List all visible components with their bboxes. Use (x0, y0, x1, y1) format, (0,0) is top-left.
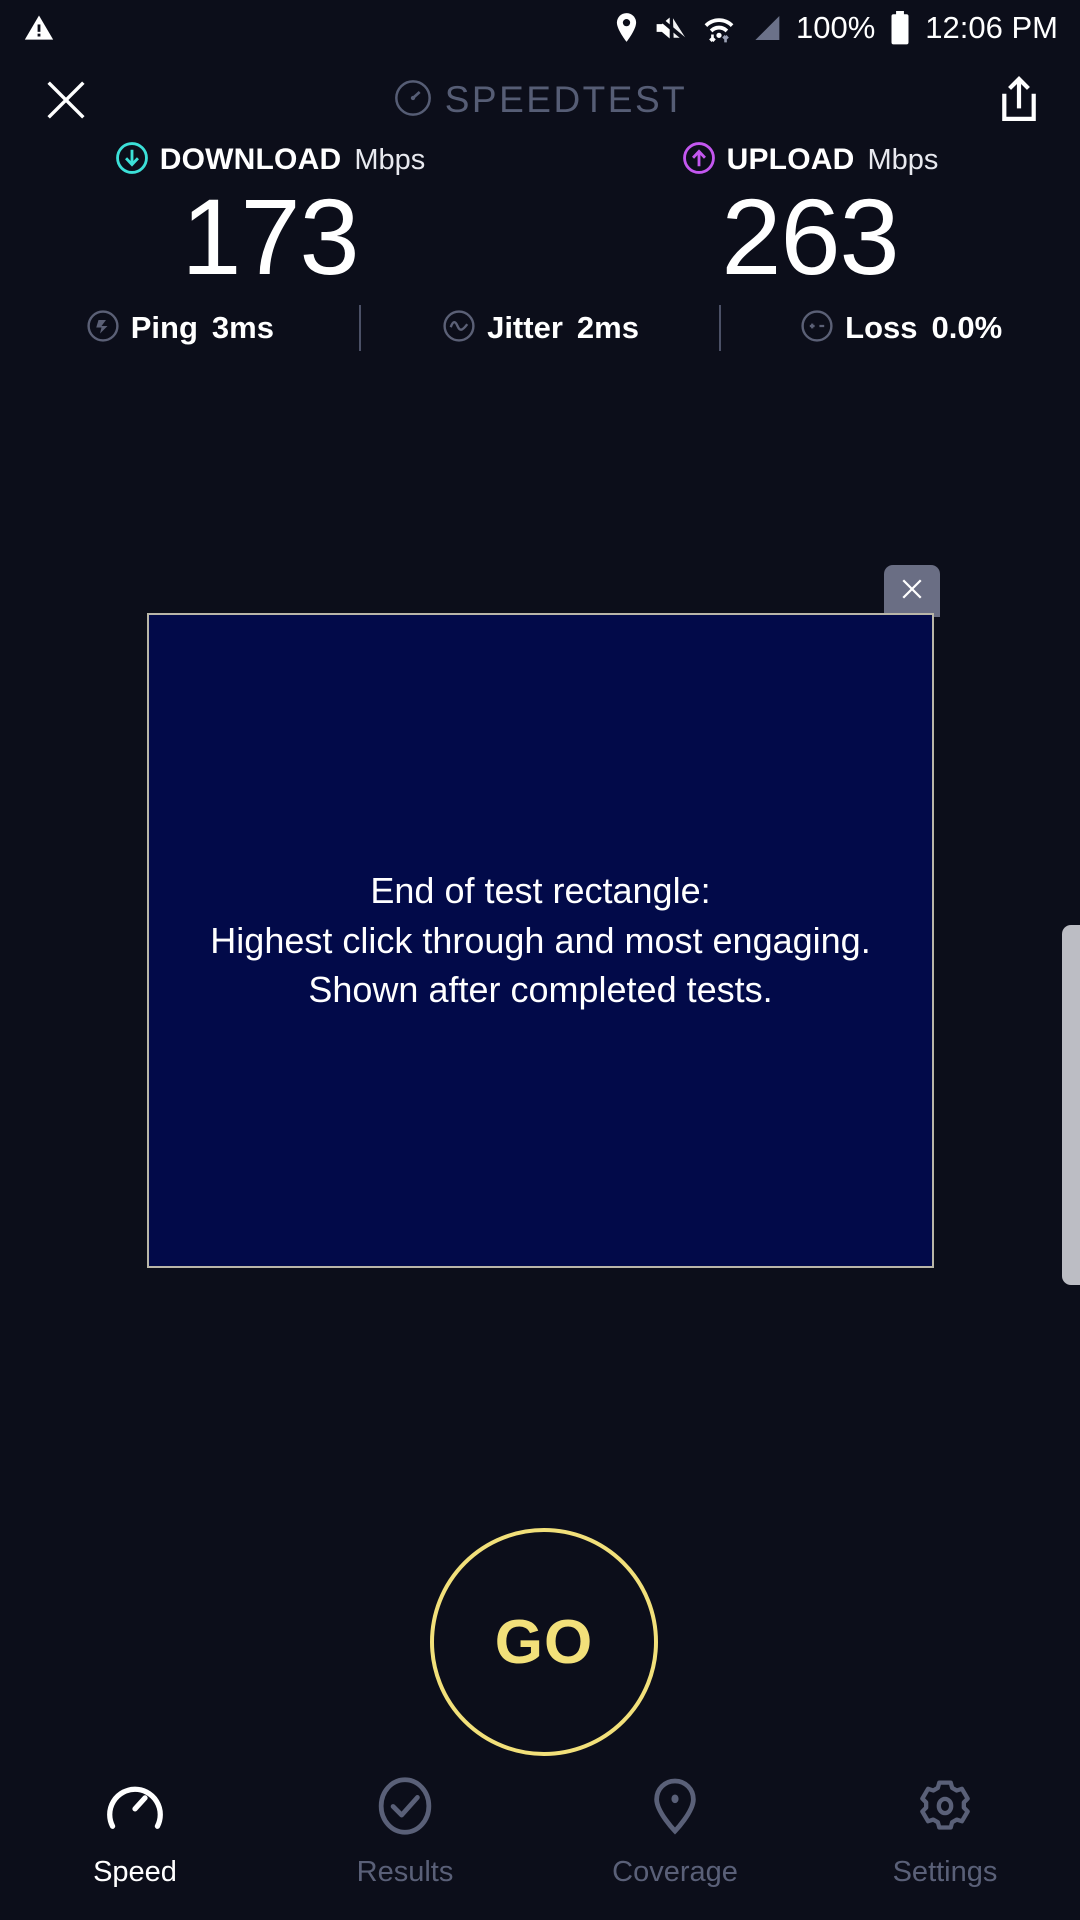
app-header: SPEEDTEST (0, 55, 1080, 145)
ping-stat: Ping 3ms (0, 308, 359, 349)
clock-label: 12:06 PM (925, 10, 1058, 46)
nav-label-coverage: Coverage (612, 1856, 738, 1889)
download-unit: Mbps (354, 144, 425, 177)
check-circle-icon (374, 1777, 436, 1840)
nav-item-speed[interactable]: Speed (0, 1777, 270, 1889)
nav-label-speed: Speed (93, 1856, 177, 1889)
upload-label: UPLOAD (727, 143, 855, 177)
close-icon (897, 574, 927, 609)
upload-metric: UPLOAD Mbps 263 (540, 140, 1080, 292)
warning-triangle-icon (22, 11, 56, 45)
nav-item-results[interactable]: Results (270, 1777, 540, 1889)
ad-line-3: Shown after completed tests. (210, 965, 870, 1015)
loss-label: Loss (845, 310, 917, 346)
jitter-icon (441, 308, 477, 349)
nav-item-coverage[interactable]: Coverage (540, 1777, 810, 1889)
download-header: DOWNLOAD Mbps (115, 140, 426, 180)
upload-value: 263 (721, 182, 898, 292)
battery-full-icon (889, 11, 911, 45)
location-pin-icon (613, 12, 640, 44)
close-icon[interactable] (40, 74, 92, 126)
status-bar-left (22, 11, 56, 45)
share-icon[interactable] (998, 74, 1040, 126)
status-bar-right: 100% 12:06 PM (613, 10, 1058, 46)
ad-close-button[interactable] (884, 565, 940, 617)
cellular-signal-icon (750, 12, 782, 44)
ad-text-block: End of test rectangle: Highest click thr… (210, 866, 870, 1015)
download-arrow-icon (115, 141, 149, 180)
ad-line-2: Highest click through and most engaging. (210, 916, 870, 966)
bottom-navigation: Speed Results Coverage Settings (0, 1765, 1080, 1920)
download-value: 173 (181, 182, 358, 292)
ping-label: Ping (131, 310, 198, 346)
scrollbar-thumb[interactable] (1062, 925, 1080, 1285)
upload-arrow-icon (682, 141, 716, 180)
gear-icon (914, 1777, 976, 1840)
nav-item-settings[interactable]: Settings (810, 1777, 1080, 1889)
loss-stat: Loss 0.0% (721, 308, 1080, 349)
loss-value: 0.0% (932, 310, 1003, 346)
speedtest-gauge-icon (393, 78, 433, 123)
ad-line-1: End of test rectangle: (210, 866, 870, 916)
speedometer-icon (104, 1777, 166, 1840)
nav-label-settings: Settings (893, 1856, 998, 1889)
jitter-label: Jitter (487, 310, 563, 346)
upload-unit: Mbps (867, 144, 938, 177)
volume-muted-icon (654, 12, 688, 44)
results-summary: DOWNLOAD Mbps 173 UPLOAD Mbps 263 (0, 140, 1080, 292)
location-pin-icon (644, 1777, 706, 1840)
page-title: SPEEDTEST (445, 79, 688, 121)
network-stats-row: Ping 3ms Jitter 2ms Loss 0.0% (0, 305, 1080, 351)
go-button-label: GO (495, 1607, 593, 1678)
advertisement-banner[interactable]: End of test rectangle: Highest click thr… (147, 613, 934, 1268)
jitter-value: 2ms (577, 310, 639, 346)
wifi-transfer-icon (702, 11, 736, 45)
battery-percent-label: 100% (796, 10, 875, 46)
loss-icon (799, 308, 835, 349)
nav-label-results: Results (357, 1856, 454, 1889)
download-upload-row: DOWNLOAD Mbps 173 UPLOAD Mbps 263 (0, 140, 1080, 292)
go-button[interactable]: GO (430, 1528, 658, 1756)
jitter-stat: Jitter 2ms (361, 308, 720, 349)
download-metric: DOWNLOAD Mbps 173 (0, 140, 540, 292)
upload-header: UPLOAD Mbps (682, 140, 939, 180)
ping-icon (85, 308, 121, 349)
download-label: DOWNLOAD (160, 143, 342, 177)
status-bar: 100% 12:06 PM (0, 0, 1080, 55)
app-title-group: SPEEDTEST (0, 78, 1080, 123)
ping-value: 3ms (212, 310, 274, 346)
